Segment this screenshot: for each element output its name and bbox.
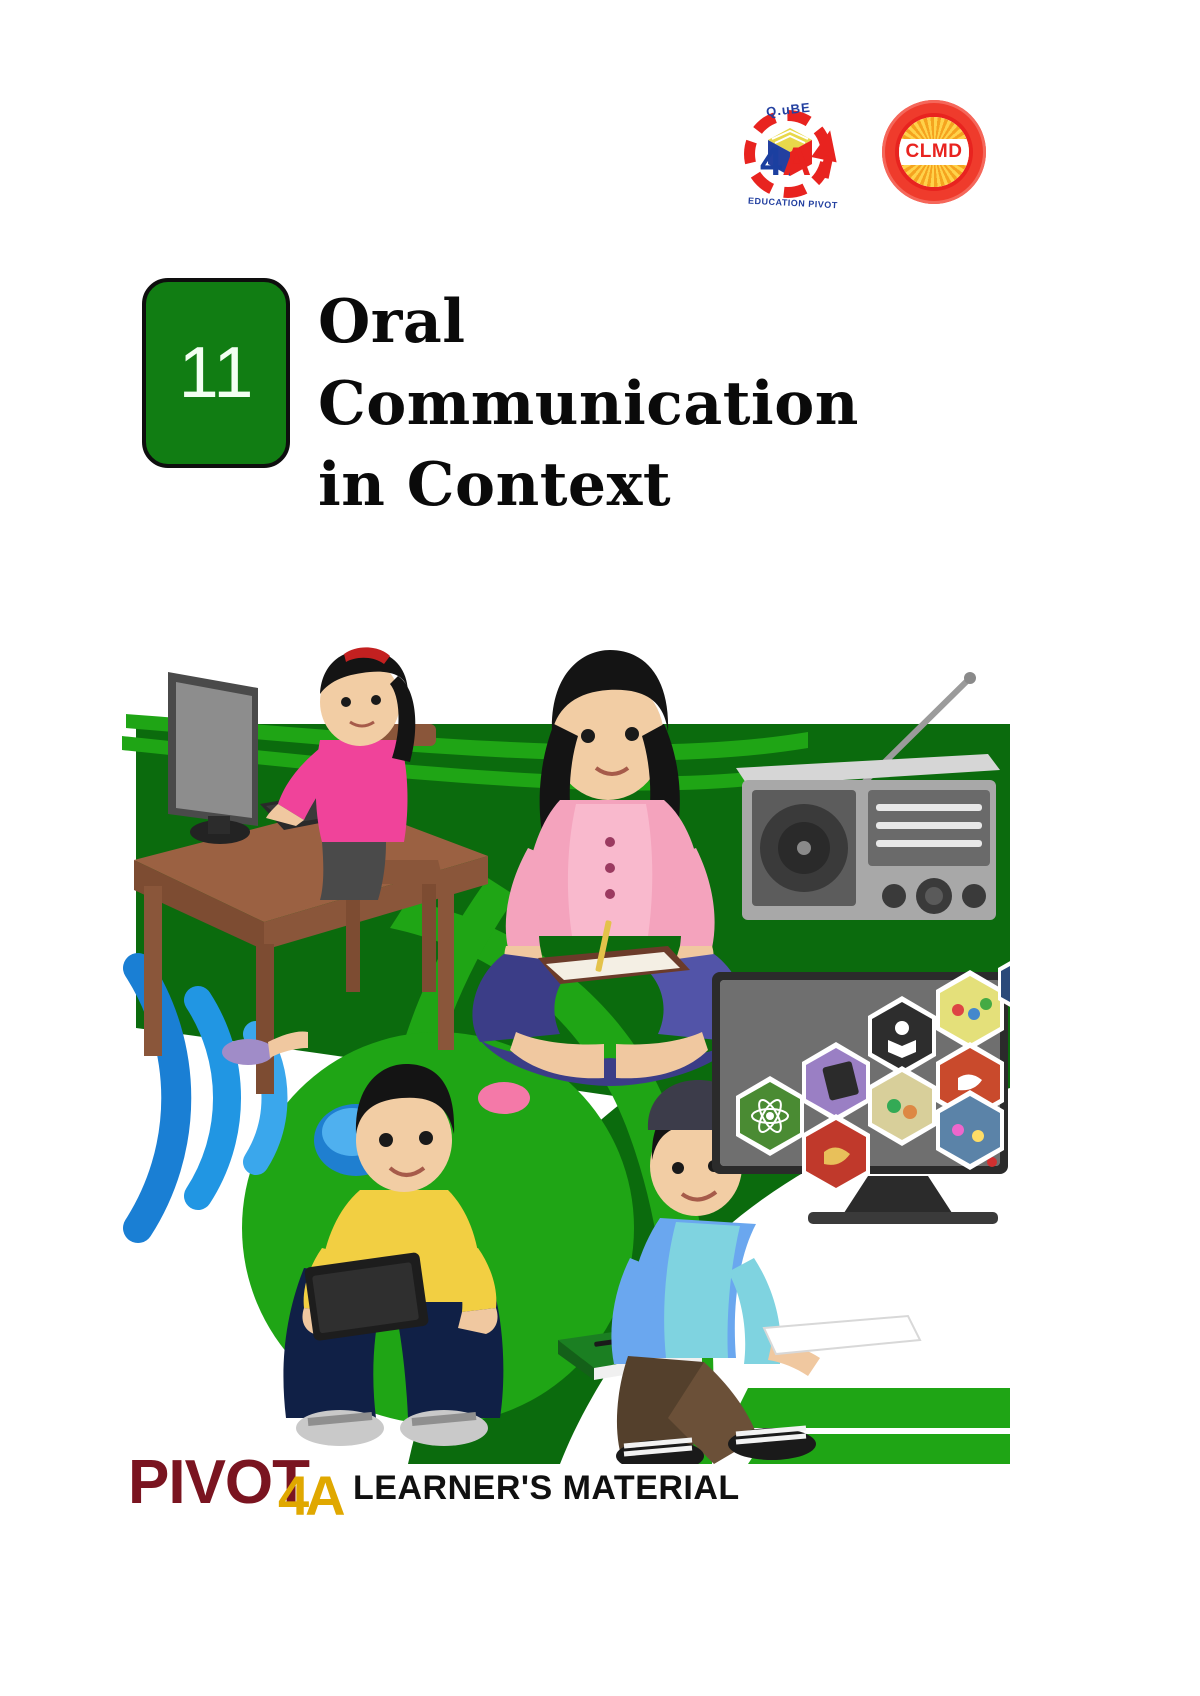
title-block: 11 Oral Communication in Context bbox=[142, 278, 859, 527]
learners-material-label: LEARNER'S MATERIAL bbox=[353, 1469, 740, 1508]
clmd-inner-circle: CLMD bbox=[895, 113, 973, 191]
cover-illustration bbox=[108, 628, 1010, 1464]
pivot-4a-suffix: 4A bbox=[278, 1468, 342, 1524]
page-title: Oral Communication in Context bbox=[318, 278, 859, 527]
title-line-3: in Context bbox=[318, 445, 859, 527]
pivot-4a-logo: PIVOT 4A bbox=[128, 1452, 309, 1518]
clmd-label: CLMD bbox=[899, 141, 969, 163]
qube-4a-logo: Q.uBE 4A EDUCATION PIVOT bbox=[736, 96, 844, 208]
qube-ring-label: EDUCATION PIVOT bbox=[748, 196, 838, 211]
logo-row: Q.uBE 4A EDUCATION PIVOT CLMD bbox=[736, 96, 986, 208]
grade-level-number: 11 bbox=[179, 337, 254, 409]
grade-level-badge: 11 bbox=[142, 278, 290, 468]
portable-radio bbox=[736, 672, 1000, 920]
qube-4a-label: 4A bbox=[760, 142, 811, 182]
title-line-2: Communication bbox=[318, 364, 859, 446]
cover-page: Q.uBE 4A EDUCATION PIVOT CLMD 11 bbox=[0, 0, 1200, 1696]
title-line-1: Oral bbox=[318, 282, 859, 364]
footer-brand: PIVOT 4A LEARNER'S MATERIAL bbox=[128, 1452, 740, 1518]
clmd-seal-logo: CLMD bbox=[882, 100, 986, 204]
